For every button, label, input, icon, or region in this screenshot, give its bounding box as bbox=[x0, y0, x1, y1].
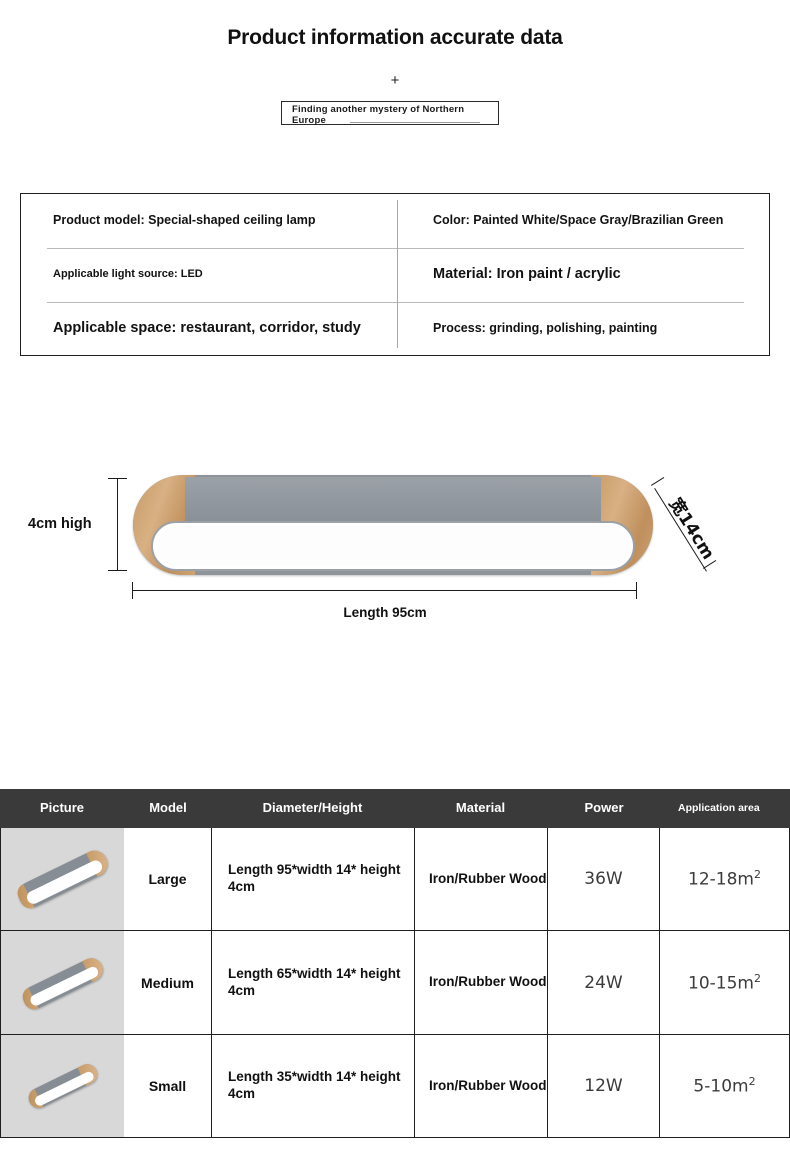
page-title: Product information accurate data bbox=[0, 26, 790, 50]
column-header-diameter-height: Diameter/Height bbox=[212, 801, 415, 816]
power-label: 24W bbox=[584, 973, 622, 993]
length-dimension-label: Length 95cm bbox=[0, 605, 770, 620]
cell-model: Small bbox=[124, 1035, 212, 1137]
subtitle-box: Finding another mystery of Northern Euro… bbox=[281, 101, 499, 125]
cell-model: Large bbox=[124, 828, 212, 930]
spec-cell-material: Material: Iron paint / acrylic bbox=[397, 248, 769, 302]
height-dimension-cap-top bbox=[108, 478, 127, 479]
thumbnail-diffuser bbox=[33, 1070, 95, 1107]
spec-cell-process: Process: grinding, polishing, painting bbox=[397, 302, 769, 356]
dimensions-label: Length 95*width 14* height 4cm bbox=[228, 862, 414, 896]
material-label: Iron/Rubber Wood bbox=[429, 871, 547, 888]
cell-application-area: 10-15m2 bbox=[660, 931, 790, 1034]
spec-column-divider bbox=[397, 200, 398, 348]
length-dimension-cap-left bbox=[132, 582, 133, 599]
spec-material-text: Material: Iron paint / acrylic bbox=[433, 266, 621, 284]
height-dimension-label: 4cm high bbox=[28, 516, 92, 532]
spec-cell-light-source: Applicable light source: LED bbox=[21, 248, 397, 302]
cell-material: Iron/Rubber Wood bbox=[415, 931, 548, 1034]
table-row: Medium Length 65*width 14* height 4cm Ir… bbox=[0, 931, 790, 1035]
column-header-power: Power bbox=[548, 801, 660, 816]
spec-row-divider bbox=[47, 302, 744, 303]
spec-cell-space: Applicable space: restaurant, corridor, … bbox=[21, 302, 397, 356]
cell-picture bbox=[0, 931, 124, 1034]
spec-space-text: Applicable space: restaurant, corridor, … bbox=[53, 320, 361, 338]
height-dimension-line bbox=[117, 478, 118, 570]
cell-dimensions: Length 35*width 14* height 4cm bbox=[212, 1035, 415, 1137]
lamp-top-face bbox=[185, 477, 601, 525]
lamp-thumbnail-large bbox=[8, 839, 118, 919]
lamp-diffuser bbox=[151, 521, 635, 571]
spec-model-text: Product model: Special-shaped ceiling la… bbox=[53, 213, 316, 228]
column-header-material: Material bbox=[415, 801, 548, 816]
material-label: Iron/Rubber Wood bbox=[429, 974, 547, 991]
spec-cell-color: Color: Painted White/Space Gray/Brazilia… bbox=[397, 194, 769, 248]
dimensions-label: Length 35*width 14* height 4cm bbox=[228, 1069, 414, 1103]
product-variant-table: Picture Model Diameter/Height Material P… bbox=[0, 789, 790, 1138]
spec-row-divider bbox=[47, 248, 744, 249]
specification-table: Product model: Special-shaped ceiling la… bbox=[20, 193, 770, 356]
spec-row: Product model: Special-shaped ceiling la… bbox=[21, 194, 769, 248]
cell-picture bbox=[0, 1035, 124, 1137]
application-area-label: 5-10m2 bbox=[693, 1075, 755, 1097]
dimensions-label: Length 65*width 14* height 4cm bbox=[228, 966, 414, 1000]
application-area-label: 10-15m2 bbox=[688, 972, 761, 994]
width-dimension-cap-bottom bbox=[703, 560, 716, 569]
power-label: 12W bbox=[584, 1076, 622, 1096]
product-dimension-diagram: 4cm high Length 95cm 宽14cm bbox=[0, 440, 790, 640]
area-unit: 2 bbox=[754, 868, 761, 881]
spec-light-source-text: Applicable light source: LED bbox=[53, 268, 203, 281]
spec-color-text: Color: Painted White/Space Gray/Brazilia… bbox=[433, 213, 723, 228]
material-label: Iron/Rubber Wood bbox=[429, 1078, 547, 1095]
thumbnail-diffuser bbox=[28, 964, 100, 1007]
page-header: Product information accurate data bbox=[0, 26, 790, 50]
length-dimension-line bbox=[132, 590, 637, 591]
width-dimension-label: 宽14cm bbox=[665, 492, 722, 563]
length-dimension-cap-right bbox=[636, 582, 637, 599]
cell-material: Iron/Rubber Wood bbox=[415, 1035, 548, 1137]
thumbnail-lamp-shape bbox=[25, 1061, 100, 1111]
power-label: 36W bbox=[584, 869, 622, 889]
product-table-header-row: Picture Model Diameter/Height Material P… bbox=[0, 789, 790, 828]
thumbnail-lamp-shape bbox=[19, 954, 106, 1012]
table-row: Large Length 95*width 14* height 4cm Iro… bbox=[0, 828, 790, 931]
model-label: Large bbox=[148, 871, 186, 887]
model-label: Small bbox=[149, 1078, 186, 1094]
thumbnail-diffuser bbox=[24, 858, 104, 906]
column-header-application-area: Application area bbox=[660, 802, 790, 814]
height-dimension-cap-bottom bbox=[108, 570, 127, 571]
cell-power: 12W bbox=[548, 1035, 660, 1137]
spec-row: Applicable light source: LED Material: I… bbox=[21, 248, 769, 302]
cell-picture bbox=[0, 828, 124, 930]
subtitle-underline bbox=[350, 122, 480, 123]
cell-material: Iron/Rubber Wood bbox=[415, 828, 548, 930]
spec-cell-model: Product model: Special-shaped ceiling la… bbox=[21, 194, 397, 248]
cell-power: 24W bbox=[548, 931, 660, 1034]
table-row: Small Length 35*width 14* height 4cm Iro… bbox=[0, 1035, 790, 1138]
area-unit: 2 bbox=[754, 972, 761, 985]
cell-dimensions: Length 95*width 14* height 4cm bbox=[212, 828, 415, 930]
lamp-illustration bbox=[133, 475, 653, 585]
area-value: 12-18m bbox=[688, 870, 754, 890]
area-value: 5-10m bbox=[693, 1077, 748, 1097]
cell-application-area: 12-18m2 bbox=[660, 828, 790, 930]
area-unit: 2 bbox=[749, 1075, 756, 1088]
plus-separator-icon: + bbox=[0, 73, 790, 88]
column-header-picture: Picture bbox=[0, 801, 124, 816]
thumbnail-lamp-shape bbox=[14, 846, 112, 911]
lamp-diffuser-inner bbox=[157, 526, 629, 566]
cell-power: 36W bbox=[548, 828, 660, 930]
cell-dimensions: Length 65*width 14* height 4cm bbox=[212, 931, 415, 1034]
application-area-label: 12-18m2 bbox=[688, 868, 761, 890]
model-label: Medium bbox=[141, 975, 194, 991]
column-header-model: Model bbox=[124, 801, 212, 816]
spec-process-text: Process: grinding, polishing, painting bbox=[433, 321, 657, 336]
spec-row: Applicable space: restaurant, corridor, … bbox=[21, 302, 769, 356]
cell-model: Medium bbox=[124, 931, 212, 1034]
area-value: 10-15m bbox=[688, 973, 754, 993]
lamp-thumbnail-small bbox=[8, 1046, 118, 1126]
cell-application-area: 5-10m2 bbox=[660, 1035, 790, 1137]
lamp-thumbnail-medium bbox=[8, 943, 118, 1023]
